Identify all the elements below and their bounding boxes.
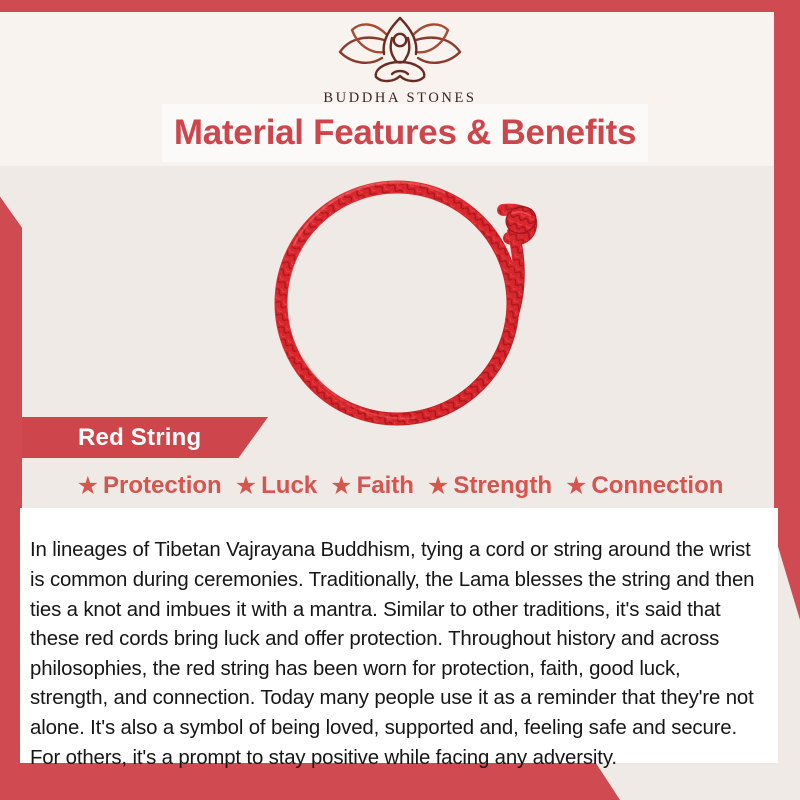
benefit-item-connection: ★ Connection [560, 472, 728, 500]
benefits-row: ★ Protection ★ Luck ★ Faith ★ Strength ★… [22, 466, 778, 506]
benefit-label: Protection [103, 472, 222, 500]
benefit-item-protection: ★ Protection [72, 472, 227, 500]
poster-root: BUDDHA STONES Material Features & Benefi… [0, 0, 800, 800]
product-label: Red String [78, 424, 201, 452]
left-red-stripe [0, 178, 22, 800]
product-image-red-string-bracelet [245, 168, 565, 430]
benefit-label: Connection [591, 472, 723, 500]
benefit-item-faith: ★ Faith [325, 472, 419, 500]
top-red-bar [0, 0, 800, 12]
benefit-item-strength: ★ Strength [422, 472, 557, 500]
benefit-item-luck: ★ Luck [230, 472, 322, 500]
lotus-meditation-figure-icon [334, 14, 466, 86]
title-band: Material Features & Benefits [162, 104, 648, 162]
benefit-label: Strength [453, 472, 552, 500]
brand-logo: BUDDHA STONES [0, 14, 800, 107]
benefit-label: Luck [261, 472, 317, 500]
star-icon: ★ [565, 474, 587, 499]
description-panel: In lineages of Tibetan Vajrayana Buddhis… [20, 508, 778, 763]
star-icon: ★ [77, 474, 99, 499]
product-label-banner: Red String [22, 417, 268, 458]
star-icon: ★ [427, 474, 449, 499]
star-icon: ★ [235, 474, 257, 499]
benefit-label: Faith [357, 472, 414, 500]
description-text: In lineages of Tibetan Vajrayana Buddhis… [30, 536, 764, 773]
page-title: Material Features & Benefits [174, 113, 636, 153]
star-icon: ★ [330, 474, 352, 499]
